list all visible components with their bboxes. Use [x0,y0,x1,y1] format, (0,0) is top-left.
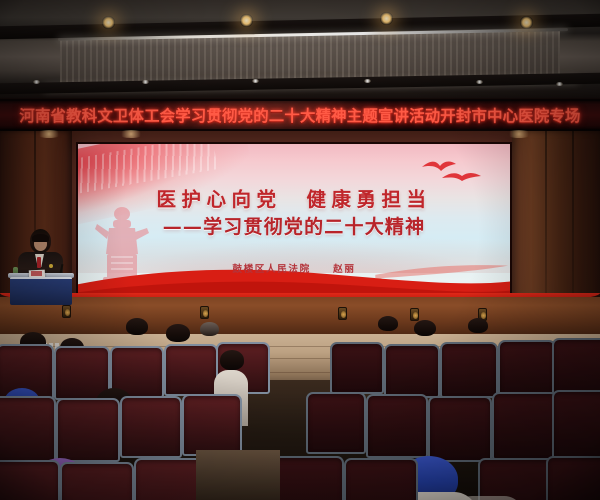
speaker-badge [49,264,53,268]
audience-head [468,318,488,333]
ceiling-downlight [142,80,149,84]
auditorium-seat[interactable] [56,398,120,462]
ceiling-spotlight [520,16,533,29]
audience-head [200,322,219,336]
auditorium-seat[interactable] [330,342,384,394]
speaker-tie [37,257,41,268]
auditorium-seat[interactable] [366,394,428,458]
wall-downlight-glow [118,130,144,138]
ceiling [0,0,600,98]
auditorium-seat[interactable] [120,396,182,458]
auditorium-seat[interactable] [0,396,56,462]
auditorium-seat[interactable] [546,456,600,500]
audience-head [126,318,148,335]
wall-panel-right [512,131,600,313]
auditorium-photo: 河南省教科文卫体工会学习贯彻党的二十大精神主题宣讲活动开封市中心医院专场 [0,0,600,500]
ceiling-downlight [252,79,259,83]
screen-presenter-line: 鼓楼区人民法院 赵丽 [78,261,510,275]
screen-subtitle: ——学习贯彻党的二十大精神 [78,212,510,239]
audience-area [0,300,600,500]
auditorium-seat[interactable] [492,392,558,460]
ceiling-downlight [556,82,563,86]
audience-head [220,350,244,370]
wall-seam [545,131,547,313]
auditorium-seat[interactable] [552,390,600,460]
aisle-floor [196,450,280,500]
auditorium-seat[interactable] [384,344,440,398]
lectern-red-folder [31,271,42,276]
ceiling-spotlight [240,14,253,27]
auditorium-seat[interactable] [60,462,134,500]
auditorium-seat[interactable] [440,342,498,398]
auditorium-seat[interactable] [306,392,366,454]
bird-icon [420,158,484,184]
auditorium-seat[interactable] [164,344,218,396]
ceiling-downlight [476,80,483,84]
ceiling-spotlight [380,12,393,25]
auditorium-seat[interactable] [428,396,492,462]
auditorium-seat[interactable] [182,394,242,456]
screen-main-title: 医护心向党 健康勇担当 [78,183,510,212]
led-banner: 河南省教科文卫体工会学习贯彻党的二十大精神主题宣讲活动开封市中心医院专场 [0,99,600,131]
auditorium-seat[interactable] [498,340,556,398]
wall-downlight-glow [36,130,62,138]
wall-downlight-glow [506,130,532,138]
auditorium-seat[interactable] [478,458,554,500]
auditorium-seat[interactable] [0,460,60,500]
auditorium-seat[interactable] [344,458,418,500]
audience-head [166,324,190,342]
ceiling-downlight [364,79,371,83]
auditorium-seat[interactable] [552,338,600,398]
audience-head [378,316,398,331]
led-presentation-screen: 医护心向党 健康勇担当 ——学习贯彻党的二十大精神 鼓楼区人民法院 赵丽 [76,142,512,307]
audience-head [414,320,436,336]
speaker-hair [32,234,49,242]
ceiling-spotlight [102,16,115,29]
auditorium-seat[interactable] [272,456,344,500]
wall-seam [572,131,574,313]
ceiling-downlight [33,80,40,84]
banner-text: 河南省教科文卫体工会学习贯彻党的二十大精神主题宣讲活动开封市中心医院专场 [19,104,580,126]
